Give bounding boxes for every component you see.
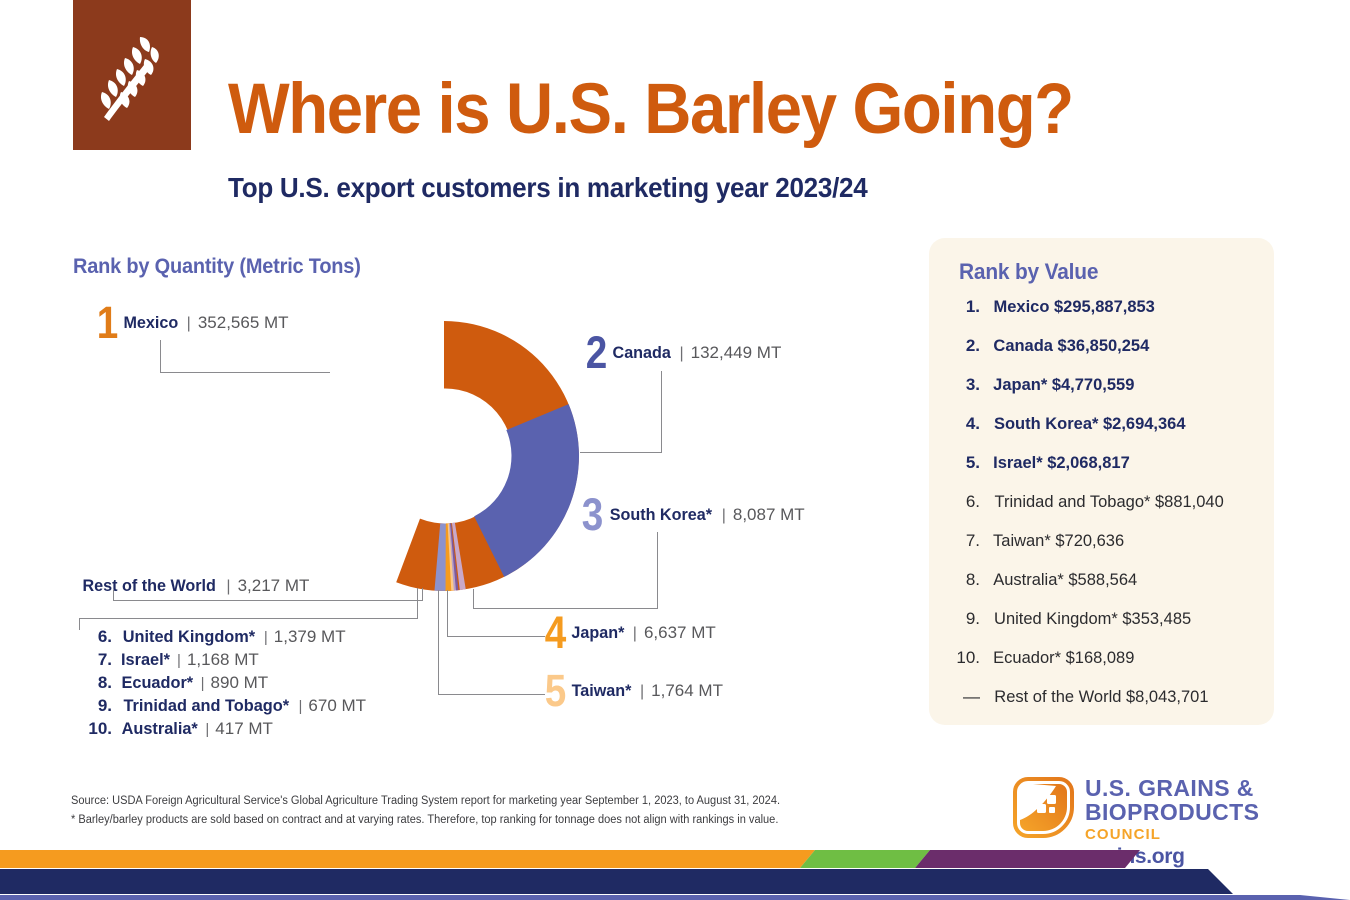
list-item-country: Israel* [121,650,170,670]
rank-number: 4 [545,610,567,655]
callout-separator: | [633,625,637,643]
list-item: 6. United Kingdom* | 1,379 MT [79,627,366,650]
leader-line-mexico-h [160,372,330,373]
value-list-item: 8. Australia* $588,564 [947,570,1267,609]
page-title: Where is U.S. Barley Going? [228,74,1073,146]
list-item-separator: | [299,698,303,715]
list-item-separator: | [201,675,205,692]
quantity-donut-chart [308,320,580,592]
value-list-item: 3. Japan* $4,770,559 [947,375,1267,414]
value-item-text: Ecuador* $168,089 [993,648,1134,668]
callout-value: 1,764 MT [651,681,723,701]
value-item-index: 4. [947,414,980,434]
callout-separator: | [679,345,683,363]
rank-number: 3 [582,492,604,537]
value-section-heading: Rank by Value [959,259,1098,285]
minor-rank-list: 6. United Kingdom* | 1,379 MT 7. Israel*… [79,627,366,742]
value-list-item: 4. South Korea* $2,694,364 [947,414,1267,453]
value-list-item: 10. Ecuador* $168,089 [947,648,1267,687]
value-item-index: 8. [947,570,980,590]
rank-number: 1 [97,300,119,345]
list-item-separator: | [205,721,209,738]
list-item-index: 10. [79,719,112,739]
source-note: Source: USDA Foreign Agricultural Servic… [71,792,780,830]
list-item-value: 670 MT [308,696,366,716]
value-item-index: 6. [947,492,980,512]
callout-separator: | [187,315,191,333]
value-item-text: Rest of the World $8,043,701 [994,687,1208,707]
value-item-index: 7. [947,531,980,551]
callout-country: South Korea* [610,505,712,525]
value-list-item: 2. Canada $36,850,254 [947,336,1267,375]
logo-line-2: BIOPRODUCTS [1085,800,1259,824]
leader-line-japan-v [447,590,448,637]
grains-leaf-logo-icon [1012,776,1075,839]
callout-separator: | [640,683,644,701]
leader-line-minor-h [79,618,418,619]
callout-rank-5: 5 Taiwan* | 1,764 MT [543,668,723,713]
stripe-purple [915,850,1140,868]
value-item-index: 10. [947,648,980,668]
value-item-index: 3. [947,375,980,395]
leader-line-taiwan-h [438,694,545,695]
callout-country: Japan* [571,623,624,643]
value-item-index: 5. [947,453,980,473]
wheat-stalk-icon [96,27,168,123]
list-item-value: 417 MT [215,719,273,739]
list-item: 9. Trinidad and Tobago* | 670 MT [79,696,366,719]
leader-line-minor-v2 [417,588,418,619]
value-item-index: 1. [947,297,980,317]
leader-line-rest-h [113,600,423,601]
list-item-country: Trinidad and Tobago* [123,696,289,716]
callout-rank-4: 4 Japan* | 6,637 MT [543,610,716,655]
callout-separator: | [722,507,726,525]
value-item-text: Australia* $588,564 [993,570,1137,590]
list-item-separator: | [177,652,181,669]
list-item-value: 890 MT [211,673,269,693]
callout-country: Mexico [123,313,178,333]
list-item-index: 9. [79,696,112,716]
list-item: 7. Israel* | 1,168 MT [79,650,366,673]
list-item: 8. Ecuador* | 890 MT [79,673,366,696]
leader-line-taiwan-v [438,590,439,695]
callout-value: 132,449 MT [691,343,782,363]
leader-line-canada-h [580,452,662,453]
list-item-index: 7. [79,650,112,670]
leader-line-japan-h [447,636,545,637]
infographic-canvas: Where is U.S. Barley Going? Top U.S. exp… [0,0,1350,900]
value-item-index: 9. [947,609,980,629]
logo-line-1: U.S. GRAINS & [1085,776,1259,800]
value-rank-list: 1. Mexico $295,887,853 2. Canada $36,850… [947,297,1267,726]
value-item-text: United Kingdom* $353,485 [994,609,1191,629]
donut-svg [308,320,580,592]
page-subtitle: Top U.S. export customers in marketing y… [228,172,867,204]
value-list-item: 9. United Kingdom* $353,485 [947,609,1267,648]
logo-wordmark: U.S. GRAINS & BIOPRODUCTS COUNCIL [1085,776,1259,844]
value-list-item: 7. Taiwan* $720,636 [947,531,1267,570]
rank-number: 2 [586,330,608,375]
list-item-separator: | [264,629,268,646]
footer-stripes [0,838,1350,900]
callout-value: 8,087 MT [733,505,805,525]
list-item-value: 1,168 MT [187,650,259,670]
leader-line-rest-v2 [422,588,423,601]
callout-country: Canada [613,343,671,363]
source-line-2: * Barley/barley products are sold based … [71,811,780,830]
wheat-stalk-badge [73,0,191,150]
value-list-item: 6. Trinidad and Tobago* $881,040 [947,492,1267,531]
rest-of-world-label: Rest of the World [83,576,216,596]
value-item-text: Japan* $4,770,559 [993,375,1134,395]
leader-line-south-korea-v [657,532,658,609]
list-item-value: 1,379 MT [274,627,346,647]
value-item-text: South Korea* $2,694,364 [994,414,1186,434]
value-item-text: Israel* $2,068,817 [993,453,1130,473]
callout-rest-of-world: Rest of the World | 3,217 MT [79,576,309,596]
callout-separator: | [226,578,230,596]
callout-rank-3: 3 South Korea* | 8,087 MT [580,492,805,537]
rest-of-world-value: 3,217 MT [238,576,310,596]
stripe-green [800,850,930,868]
value-list-item: — Rest of the World $8,043,701 [947,687,1267,726]
leader-line-canada-v [661,371,662,453]
rank-number: 5 [545,668,567,713]
list-item-country: United Kingdom* [123,627,255,647]
value-item-text: Trinidad and Tobago* $881,040 [995,492,1224,512]
list-item-country: Australia* [122,719,198,739]
value-item-text: Taiwan* $720,636 [993,531,1124,551]
list-item-index: 8. [79,673,112,693]
stripe-periwinkle-tail [0,895,1350,900]
list-item-index: 6. [79,627,112,647]
grains-council-logo[interactable] [1012,776,1075,839]
callout-rank-1: 1 Mexico | 352,565 MT [95,300,289,345]
source-line-1: Source: USDA Foreign Agricultural Servic… [71,792,780,811]
callout-country: Taiwan* [572,681,632,701]
value-item-index: 2. [947,336,980,356]
value-item-text: Canada $36,850,254 [993,336,1149,356]
value-item-text: Mexico $295,887,853 [993,297,1154,317]
stripe-orange [0,850,815,868]
quantity-section-heading: Rank by Quantity (Metric Tons) [73,255,361,279]
list-item: 10. Australia* | 417 MT [79,719,366,742]
callout-rank-2: 2 Canada | 132,449 MT [584,330,781,375]
leader-line-south-korea-v2 [473,589,474,609]
value-item-index: — [947,687,980,707]
list-item-country: Ecuador* [121,673,193,693]
callout-value: 6,637 MT [644,623,716,643]
stripe-navy [0,869,1233,894]
value-list-item: 5. Israel* $2,068,817 [947,453,1267,492]
callout-value: 352,565 MT [198,313,289,333]
value-list-item: 1. Mexico $295,887,853 [947,297,1267,336]
